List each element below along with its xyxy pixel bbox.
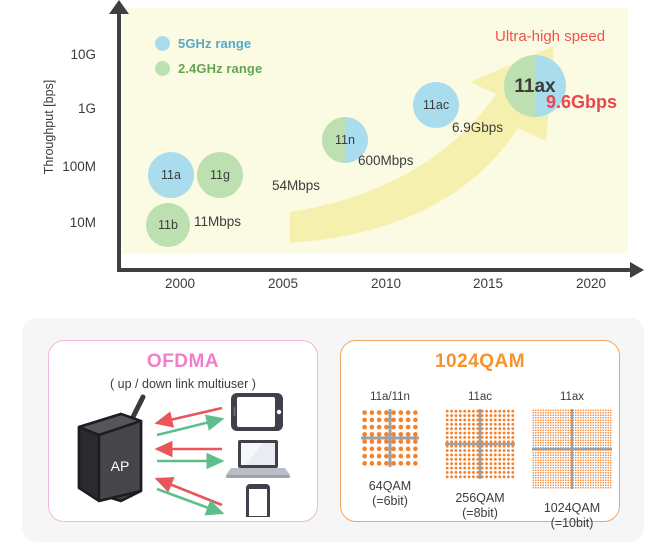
qam-title: 1024QAM	[341, 351, 619, 373]
qam-column-64-caption: 64QAM (=6bit)	[349, 479, 431, 509]
x-tick-2005: 2005	[248, 276, 318, 291]
legend-label-5ghz: 5GHz range	[178, 36, 251, 51]
qam-column-1024-head: 11ax	[529, 391, 615, 403]
qam-column-256-caption: 256QAM (=8bit)	[438, 491, 522, 521]
x-axis-line	[117, 268, 633, 272]
legend-dot-5ghz-icon	[155, 36, 170, 51]
qam-column-64: 11a/11n 64QAM (=6bit)	[349, 391, 431, 509]
qam-column-1024: 11ax 1024QAM (=10bit)	[529, 391, 615, 531]
bubble-11ax-label: 11ax	[514, 77, 555, 96]
qam-constellation-64-icon	[361, 409, 419, 467]
ap-antenna-icon	[133, 397, 143, 417]
x-tick-2000: 2000	[145, 276, 215, 291]
y-axis-arrowhead-icon	[109, 0, 129, 14]
bubble-11ac-label: 11ac	[423, 99, 449, 112]
bubble-11b-label: 11b	[158, 219, 178, 232]
feature-panels-container: OFDMA ( up / down link multiuser ) AP	[22, 318, 644, 542]
bubble-11g: 11g	[197, 152, 243, 198]
downlink-arrows	[157, 419, 222, 513]
qam-constellation-256-icon	[445, 409, 515, 479]
y-tick-10M: 10M	[36, 215, 96, 230]
ofdma-diagram: AP	[49, 391, 315, 517]
qam-panel: 1024QAM 11a/11n 64QAM (=6bit) 11ac 256QA…	[340, 340, 620, 522]
y-tick-1G: 1G	[36, 101, 96, 116]
qam-constellation-1024-icon	[532, 409, 612, 489]
bubble-11n-label: 11n	[335, 134, 355, 147]
ofdma-subtitle: ( up / down link multiuser )	[49, 377, 317, 391]
qam-column-256-head: 11ac	[438, 391, 522, 403]
legend-item-5ghz: 5GHz range	[155, 32, 262, 54]
y-tick-10G: 10G	[36, 47, 96, 62]
throughput-chart: Throughput [bps] 10G 1G 100M 10M 2000 20…	[0, 0, 666, 310]
qam-column-64-head: 11a/11n	[349, 391, 431, 403]
bubble-11g-label: 11g	[210, 169, 230, 182]
ofdma-panel: OFDMA ( up / down link multiuser ) AP	[48, 340, 318, 522]
infographic-root: Throughput [bps] 10G 1G 100M 10M 2000 20…	[0, 0, 666, 550]
bubble-11a: 11a	[148, 152, 194, 198]
rate-label-11n: 600Mbps	[358, 153, 414, 168]
ofdma-title: OFDMA	[49, 351, 317, 373]
qam-column-256: 11ac 256QAM (=8bit)	[438, 391, 522, 521]
ap-label: AP	[111, 458, 130, 474]
y-axis-line	[117, 8, 121, 272]
y-tick-100M: 100M	[36, 159, 96, 174]
legend-item-24ghz: 2.4GHz range	[155, 57, 262, 79]
bubble-11a-label: 11a	[161, 169, 181, 182]
bubble-11b: 11b	[146, 203, 190, 247]
rate-label-11g: 54Mbps	[272, 178, 320, 193]
rate-label-11ax: 9.6Gbps	[546, 92, 617, 113]
legend-label-24ghz: 2.4GHz range	[178, 61, 262, 76]
x-tick-2015: 2015	[453, 276, 523, 291]
x-tick-2010: 2010	[351, 276, 421, 291]
tablet-icon	[231, 393, 283, 431]
laptop-icon	[226, 440, 290, 478]
x-axis-arrowhead-icon	[630, 262, 644, 278]
legend-dot-24ghz-icon	[155, 61, 170, 76]
ultra-high-speed-annotation: Ultra-high speed	[495, 28, 605, 45]
rate-label-11b: 11Mbps	[194, 214, 241, 229]
smartphone-icon	[246, 484, 270, 517]
chart-legend: 5GHz range 2.4GHz range	[155, 32, 262, 82]
qam-column-1024-caption: 1024QAM (=10bit)	[529, 501, 615, 531]
ap-device-icon: AP	[79, 414, 141, 501]
x-tick-2020: 2020	[556, 276, 626, 291]
rate-label-11ac: 6.9Gbps	[452, 120, 503, 135]
